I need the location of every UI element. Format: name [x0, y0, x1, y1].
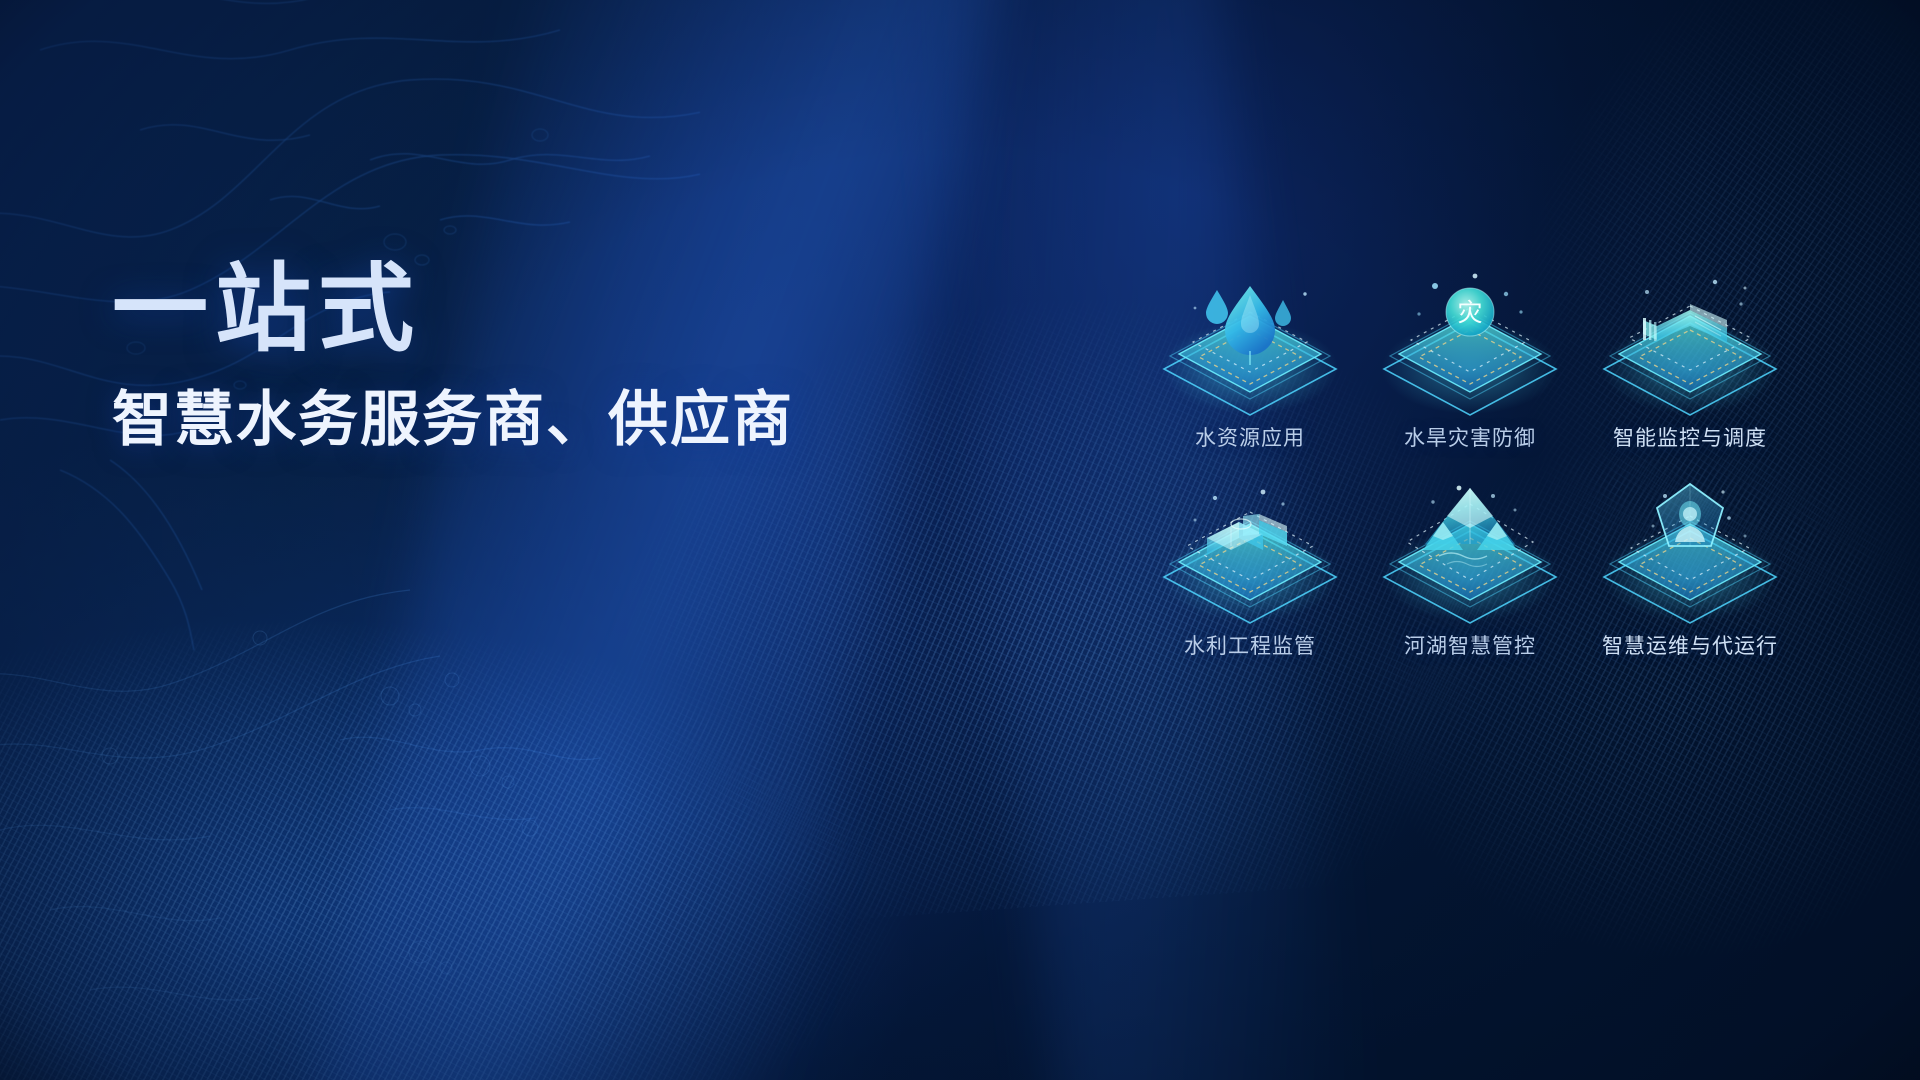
icon-flood-drought-wrap: 灾	[1375, 268, 1565, 418]
shield-operator-platform-icon	[1595, 476, 1785, 626]
grid-item-smart-monitor[interactable]: 智能监控与调度	[1580, 268, 1800, 452]
grid-label-flood-drought: 水旱灾害防御	[1404, 422, 1536, 452]
grid-label-smart-monitor: 智能监控与调度	[1613, 422, 1767, 452]
disaster-sphere-platform-icon: 灾	[1375, 268, 1565, 418]
page-title: 一站式	[112, 258, 1012, 362]
service-icon-grid: 水资源应用	[1140, 268, 1800, 660]
grid-label-river-lake: 河湖智慧管控	[1404, 630, 1536, 660]
light-sweep-band	[306, 0, 1013, 1080]
water-droplet-platform-icon	[1155, 268, 1345, 418]
slide-canvas: 一站式 智慧水务服务商、供应商	[0, 0, 1920, 1080]
mountain-river-platform-icon	[1375, 476, 1565, 626]
page-subtitle: 智慧水务服务商、供应商	[112, 384, 1012, 456]
headline-block: 一站式 智慧水务服务商、供应商	[112, 258, 1012, 456]
hydro-facility-platform-icon	[1155, 476, 1345, 626]
icon-project-supervise-wrap	[1155, 476, 1345, 626]
grid-label-smart-ops: 智慧运维与代运行	[1602, 630, 1778, 660]
icon-smart-ops-wrap	[1595, 476, 1785, 626]
icon-water-resource-wrap	[1155, 268, 1345, 418]
grid-item-flood-drought[interactable]: 灾 水旱灾害防御	[1360, 268, 1580, 452]
dotted-mesh-pattern-bottom	[0, 620, 1260, 1080]
grid-item-water-resource[interactable]: 水资源应用	[1140, 268, 1360, 452]
dam-structure-platform-icon	[1595, 268, 1785, 418]
grid-item-smart-ops[interactable]: 智慧运维与代运行	[1580, 476, 1800, 660]
water-vein-texture-lower-icon	[0, 560, 600, 1080]
grid-label-water-resource: 水资源应用	[1195, 422, 1305, 452]
icon-smart-monitor-wrap	[1595, 268, 1785, 418]
disaster-glyph: 灾	[1457, 299, 1482, 327]
icon-river-lake-wrap	[1375, 476, 1565, 626]
grid-item-project-supervise[interactable]: 水利工程监管	[1140, 476, 1360, 660]
grid-label-project-supervise: 水利工程监管	[1184, 630, 1316, 660]
grid-item-river-lake[interactable]: 河湖智慧管控	[1360, 476, 1580, 660]
